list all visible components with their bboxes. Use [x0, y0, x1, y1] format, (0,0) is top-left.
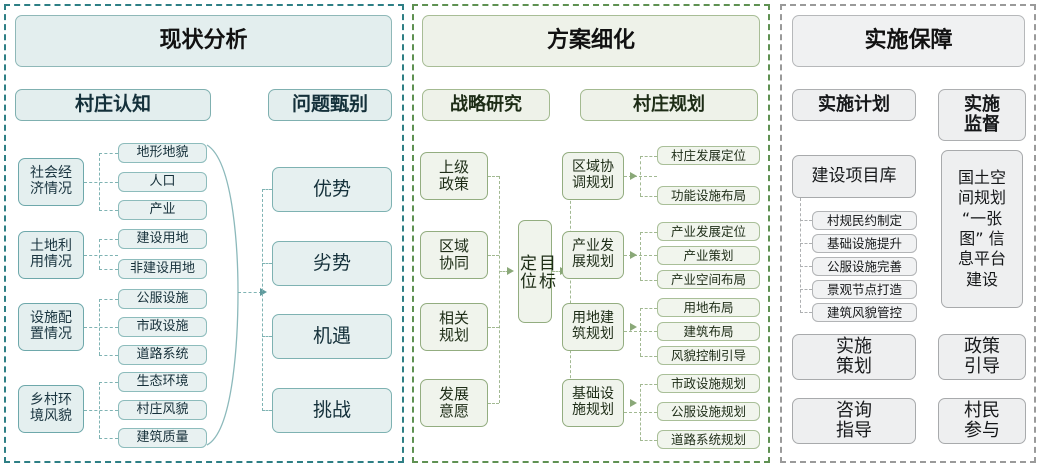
- item-public-service[interactable]: 公服设施: [118, 289, 207, 309]
- hub-goal-positioning[interactable]: 目标 定位: [518, 220, 552, 323]
- connector-library-vertical: [800, 198, 801, 313]
- connector-groupB-h2: [640, 280, 657, 281]
- connector-facility-h2: [99, 355, 118, 356]
- arrow-groupB: [630, 251, 637, 259]
- panel-2-title: 方案细化: [422, 15, 760, 67]
- connector-groupB-h1: [624, 255, 657, 256]
- arrow-groupA: [630, 172, 637, 180]
- header-implementation-plan[interactable]: 实施计划: [792, 89, 916, 121]
- connector-input-h3: [488, 403, 499, 404]
- panel-3-title: 实施保障: [792, 15, 1025, 67]
- implementation-planning[interactable]: 实施 策划: [792, 334, 916, 380]
- connector-facility-h0: [99, 299, 118, 300]
- connector-brace-out: [238, 292, 262, 293]
- item-industry[interactable]: 产业: [118, 200, 207, 220]
- connector-input-h0: [488, 176, 499, 177]
- item-road-system-planning[interactable]: 道路系统规划: [657, 430, 760, 449]
- arrow-inputs-to-hub: [507, 267, 514, 275]
- connector-groupD-h0: [640, 384, 657, 385]
- connector-outcome-h2: [262, 336, 272, 337]
- item-industry-plan[interactable]: 产业策划: [657, 246, 760, 265]
- input-development-will[interactable]: 发展 意愿: [420, 379, 488, 427]
- group-infrastructure[interactable]: 基础设 施规划: [562, 379, 624, 427]
- item-building-layout[interactable]: 建筑布局: [657, 322, 760, 341]
- connector-input-h2: [488, 327, 499, 328]
- outcome-strength[interactable]: 优势: [272, 167, 392, 212]
- connector-outcome-vertical: [262, 189, 263, 411]
- connector-library-h3: [800, 289, 812, 290]
- connector-outcome-h0: [262, 189, 272, 190]
- connector-rural-h1: [84, 410, 118, 411]
- connector-facility-h1: [84, 327, 118, 328]
- connector-rural-h2: [99, 438, 118, 439]
- group-industry-development[interactable]: 产业发 展规划: [562, 231, 624, 279]
- header-village-planning[interactable]: 村庄规划: [580, 89, 758, 121]
- item-non-construction-land[interactable]: 非建设用地: [118, 259, 207, 279]
- connector-input-h1: [488, 255, 499, 256]
- connector-socio-h0: [99, 153, 118, 154]
- header-strategy-research[interactable]: 战略研究: [422, 89, 550, 121]
- outcome-opportunity[interactable]: 机遇: [272, 314, 392, 359]
- project-library[interactable]: 建设项目库: [792, 155, 916, 198]
- item-function-facility-layout[interactable]: 功能设施布局: [657, 186, 760, 205]
- item-industry-position[interactable]: 产业发展定位: [657, 222, 760, 241]
- connector-socio-h1: [84, 182, 118, 183]
- group-socio-economic[interactable]: 社会经 济情况: [18, 158, 84, 206]
- connector-land-h0: [99, 239, 118, 240]
- outcome-weakness[interactable]: 劣势: [272, 241, 392, 286]
- item-village-style[interactable]: 村庄风貌: [118, 400, 207, 420]
- header-problem-screening[interactable]: 问题甄别: [268, 89, 392, 121]
- group-land-use[interactable]: 土地利 用情况: [18, 231, 84, 279]
- brace-collector: [205, 140, 251, 450]
- consultation-guidance[interactable]: 咨询 指导: [792, 398, 916, 444]
- policy-guidance[interactable]: 政策 引导: [938, 334, 1026, 380]
- item-construction-land[interactable]: 建设用地: [118, 229, 207, 249]
- connector-groupA-h0: [640, 156, 657, 157]
- item-land-layout[interactable]: 用地布局: [657, 298, 760, 317]
- outcome-challenge[interactable]: 挑战: [272, 388, 392, 433]
- connector-groupB-vertical: [640, 232, 641, 280]
- header-implementation-supervision[interactable]: 实施 监督: [938, 89, 1026, 141]
- connector-library-h2: [800, 266, 812, 267]
- connector-outcome-h1: [262, 263, 272, 264]
- connector-groupD-h2: [640, 440, 657, 441]
- input-related-planning[interactable]: 相关 规划: [420, 303, 488, 351]
- item-infra-upgrade[interactable]: 基础设施提升: [812, 234, 917, 253]
- item-landscape-nodes[interactable]: 景观节点打造: [812, 280, 917, 299]
- connector-library-h1: [800, 243, 812, 244]
- connector-land-h2: [99, 269, 118, 270]
- item-public-service-planning[interactable]: 公服设施规划: [657, 402, 760, 421]
- item-building-quality[interactable]: 建筑质量: [118, 428, 207, 448]
- connector-rural-h0: [99, 382, 118, 383]
- header-village-cognition[interactable]: 村庄认知: [15, 89, 211, 121]
- group-rural-environment[interactable]: 乡村环 境风貌: [18, 385, 84, 433]
- item-building-style-control[interactable]: 建筑风貌管控: [812, 303, 917, 322]
- connector-hub-vertical: [570, 176, 571, 403]
- panel-1-title: 现状分析: [15, 15, 392, 67]
- item-municipal-planning[interactable]: 市政设施规划: [657, 374, 760, 393]
- item-road-system[interactable]: 道路系统: [118, 345, 207, 365]
- item-ecology[interactable]: 生态环境: [118, 372, 207, 392]
- item-municipal-facility[interactable]: 市政设施: [118, 317, 207, 337]
- connector-outcome-h3: [262, 410, 272, 411]
- connector-socio-h2: [99, 210, 118, 211]
- connector-land-vertical: [99, 239, 100, 269]
- connector-groupD-h1: [624, 412, 657, 413]
- item-industry-space-layout[interactable]: 产业空间布局: [657, 270, 760, 289]
- connector-library-h4: [800, 312, 812, 313]
- item-village-rules[interactable]: 村规民约制定: [812, 211, 917, 230]
- group-land-architecture[interactable]: 用地建 筑规划: [562, 303, 624, 351]
- connector-groupA-h2: [640, 196, 657, 197]
- connector-library-h0: [800, 220, 812, 221]
- arrow-groupD: [630, 399, 637, 407]
- diagram-canvas: 现状分析 村庄认知 问题甄别 社会经 济情况 地形地貌 人口 产业 土地利 用情…: [0, 0, 1040, 467]
- connector-groupA-h1: [624, 176, 657, 177]
- input-upper-policy[interactable]: 上级 政策: [420, 152, 488, 200]
- platform-information[interactable]: 国土空 间规划 “一张 图” 信 息平台 建设: [941, 150, 1023, 308]
- connector-groupC-h1: [624, 331, 657, 332]
- item-village-dev-position[interactable]: 村庄发展定位: [657, 146, 760, 165]
- connector-groupC-h2: [640, 356, 657, 357]
- item-public-service-improve[interactable]: 公服设施完善: [812, 257, 917, 276]
- connector-groupC-vertical: [640, 308, 641, 356]
- connector-input-vertical: [499, 176, 500, 403]
- group-regional-coordination[interactable]: 区域协 调规划: [562, 152, 624, 200]
- connector-groupC-h0: [640, 308, 657, 309]
- item-population[interactable]: 人口: [118, 172, 207, 192]
- connector-land-h1: [84, 255, 118, 256]
- villager-participation[interactable]: 村民 参与: [938, 398, 1026, 444]
- group-facility-allocation[interactable]: 设施配 置情况: [18, 303, 84, 351]
- item-terrain[interactable]: 地形地貌: [118, 143, 207, 163]
- item-style-control-guidance[interactable]: 风貌控制引导: [657, 346, 760, 365]
- arrow-groupC: [630, 323, 637, 331]
- input-regional-synergy[interactable]: 区域 协同: [420, 231, 488, 279]
- connector-groupB-h0: [640, 232, 657, 233]
